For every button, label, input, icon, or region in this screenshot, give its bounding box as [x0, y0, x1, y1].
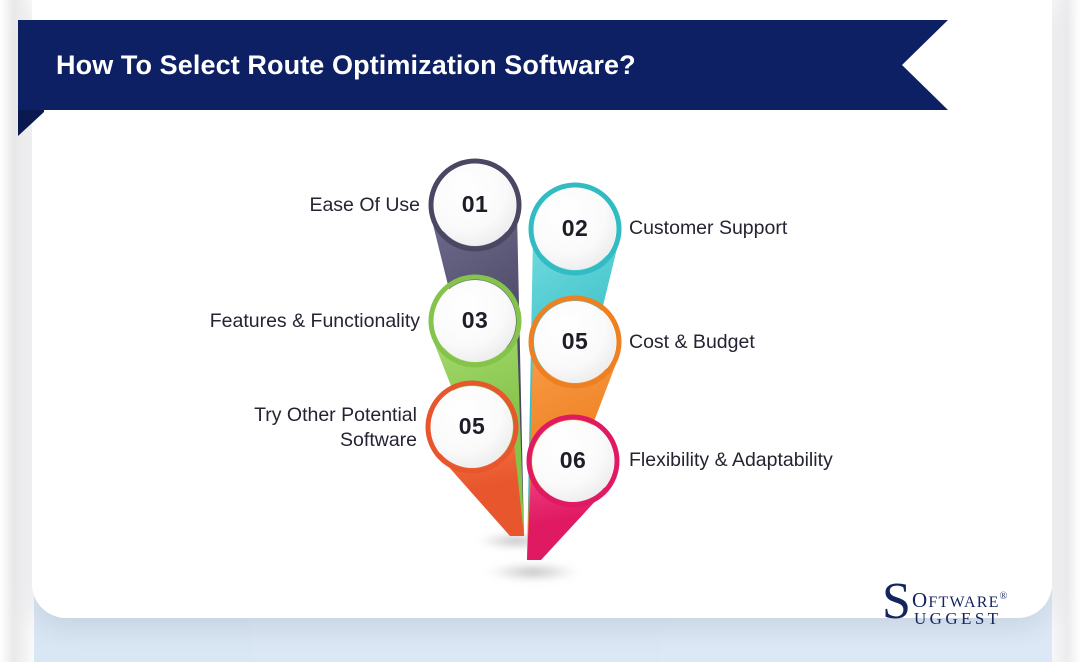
logo-line-suggest: UGGEST	[914, 610, 1001, 627]
registered-mark-icon: ®	[1000, 591, 1008, 602]
background-right-edge-strip	[1052, 0, 1080, 662]
softwaresuggest-logo: S OFTWARE® UGGEST	[882, 580, 1032, 634]
logo-s-glyph: S	[882, 576, 911, 628]
page-title: How To Select Route Optimization Softwar…	[56, 20, 636, 110]
title-ribbon: How To Select Route Optimization Softwar…	[18, 20, 948, 130]
infographic-canvas: How To Select Route Optimization Softwar…	[0, 0, 1080, 662]
